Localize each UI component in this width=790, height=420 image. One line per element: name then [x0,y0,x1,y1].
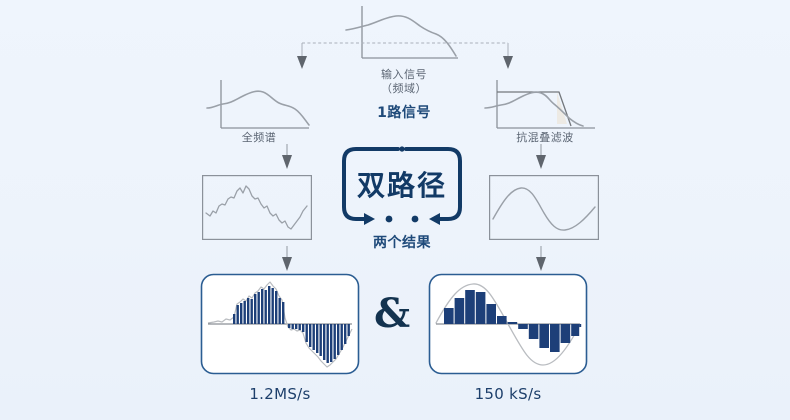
bracket-top-node [399,146,404,151]
input-signal-sublabel: （频域） [324,82,484,96]
arrow-head-left [297,56,307,69]
chart-anti-alias-filter [483,78,601,136]
one-channel-label: 1路信号 [324,102,484,122]
arrow-right-row1-row2 [533,144,549,170]
anti-alias-filter-label: 抗混叠滤波 [485,131,605,145]
arrow-left-row1-row2 [279,144,295,170]
two-results-label: 两个结果 [330,232,474,252]
arrow-head-right [503,56,513,69]
result-dot-right [412,216,419,223]
dual-path-label: 双路径 [340,164,464,204]
arrow-right-row2-row3 [533,246,549,272]
arrow-head-in-left [364,213,375,225]
diagram-canvas: 输入信号 （频域） 1路信号 全频谱 抗混叠滤波 [0,0,790,420]
panel-sampled-1p2ms [200,273,360,375]
arrow-head-in-right [429,213,440,225]
chart-wideband-time-waveform [202,175,312,240]
full-spectrum-label: 全频谱 [199,131,319,145]
panel-sampled-150ks [428,273,588,375]
rate-label-left: 1.2MS/s [200,385,360,403]
chart-filtered-sine-waveform [489,175,599,240]
branch-connector [280,38,530,74]
result-dot-left [386,216,393,223]
arrow-left-row2-row3 [279,246,295,272]
ampersand-symbol: & [374,294,410,334]
rate-label-right: 150 kS/s [428,385,588,403]
chart-full-spectrum [205,78,313,136]
